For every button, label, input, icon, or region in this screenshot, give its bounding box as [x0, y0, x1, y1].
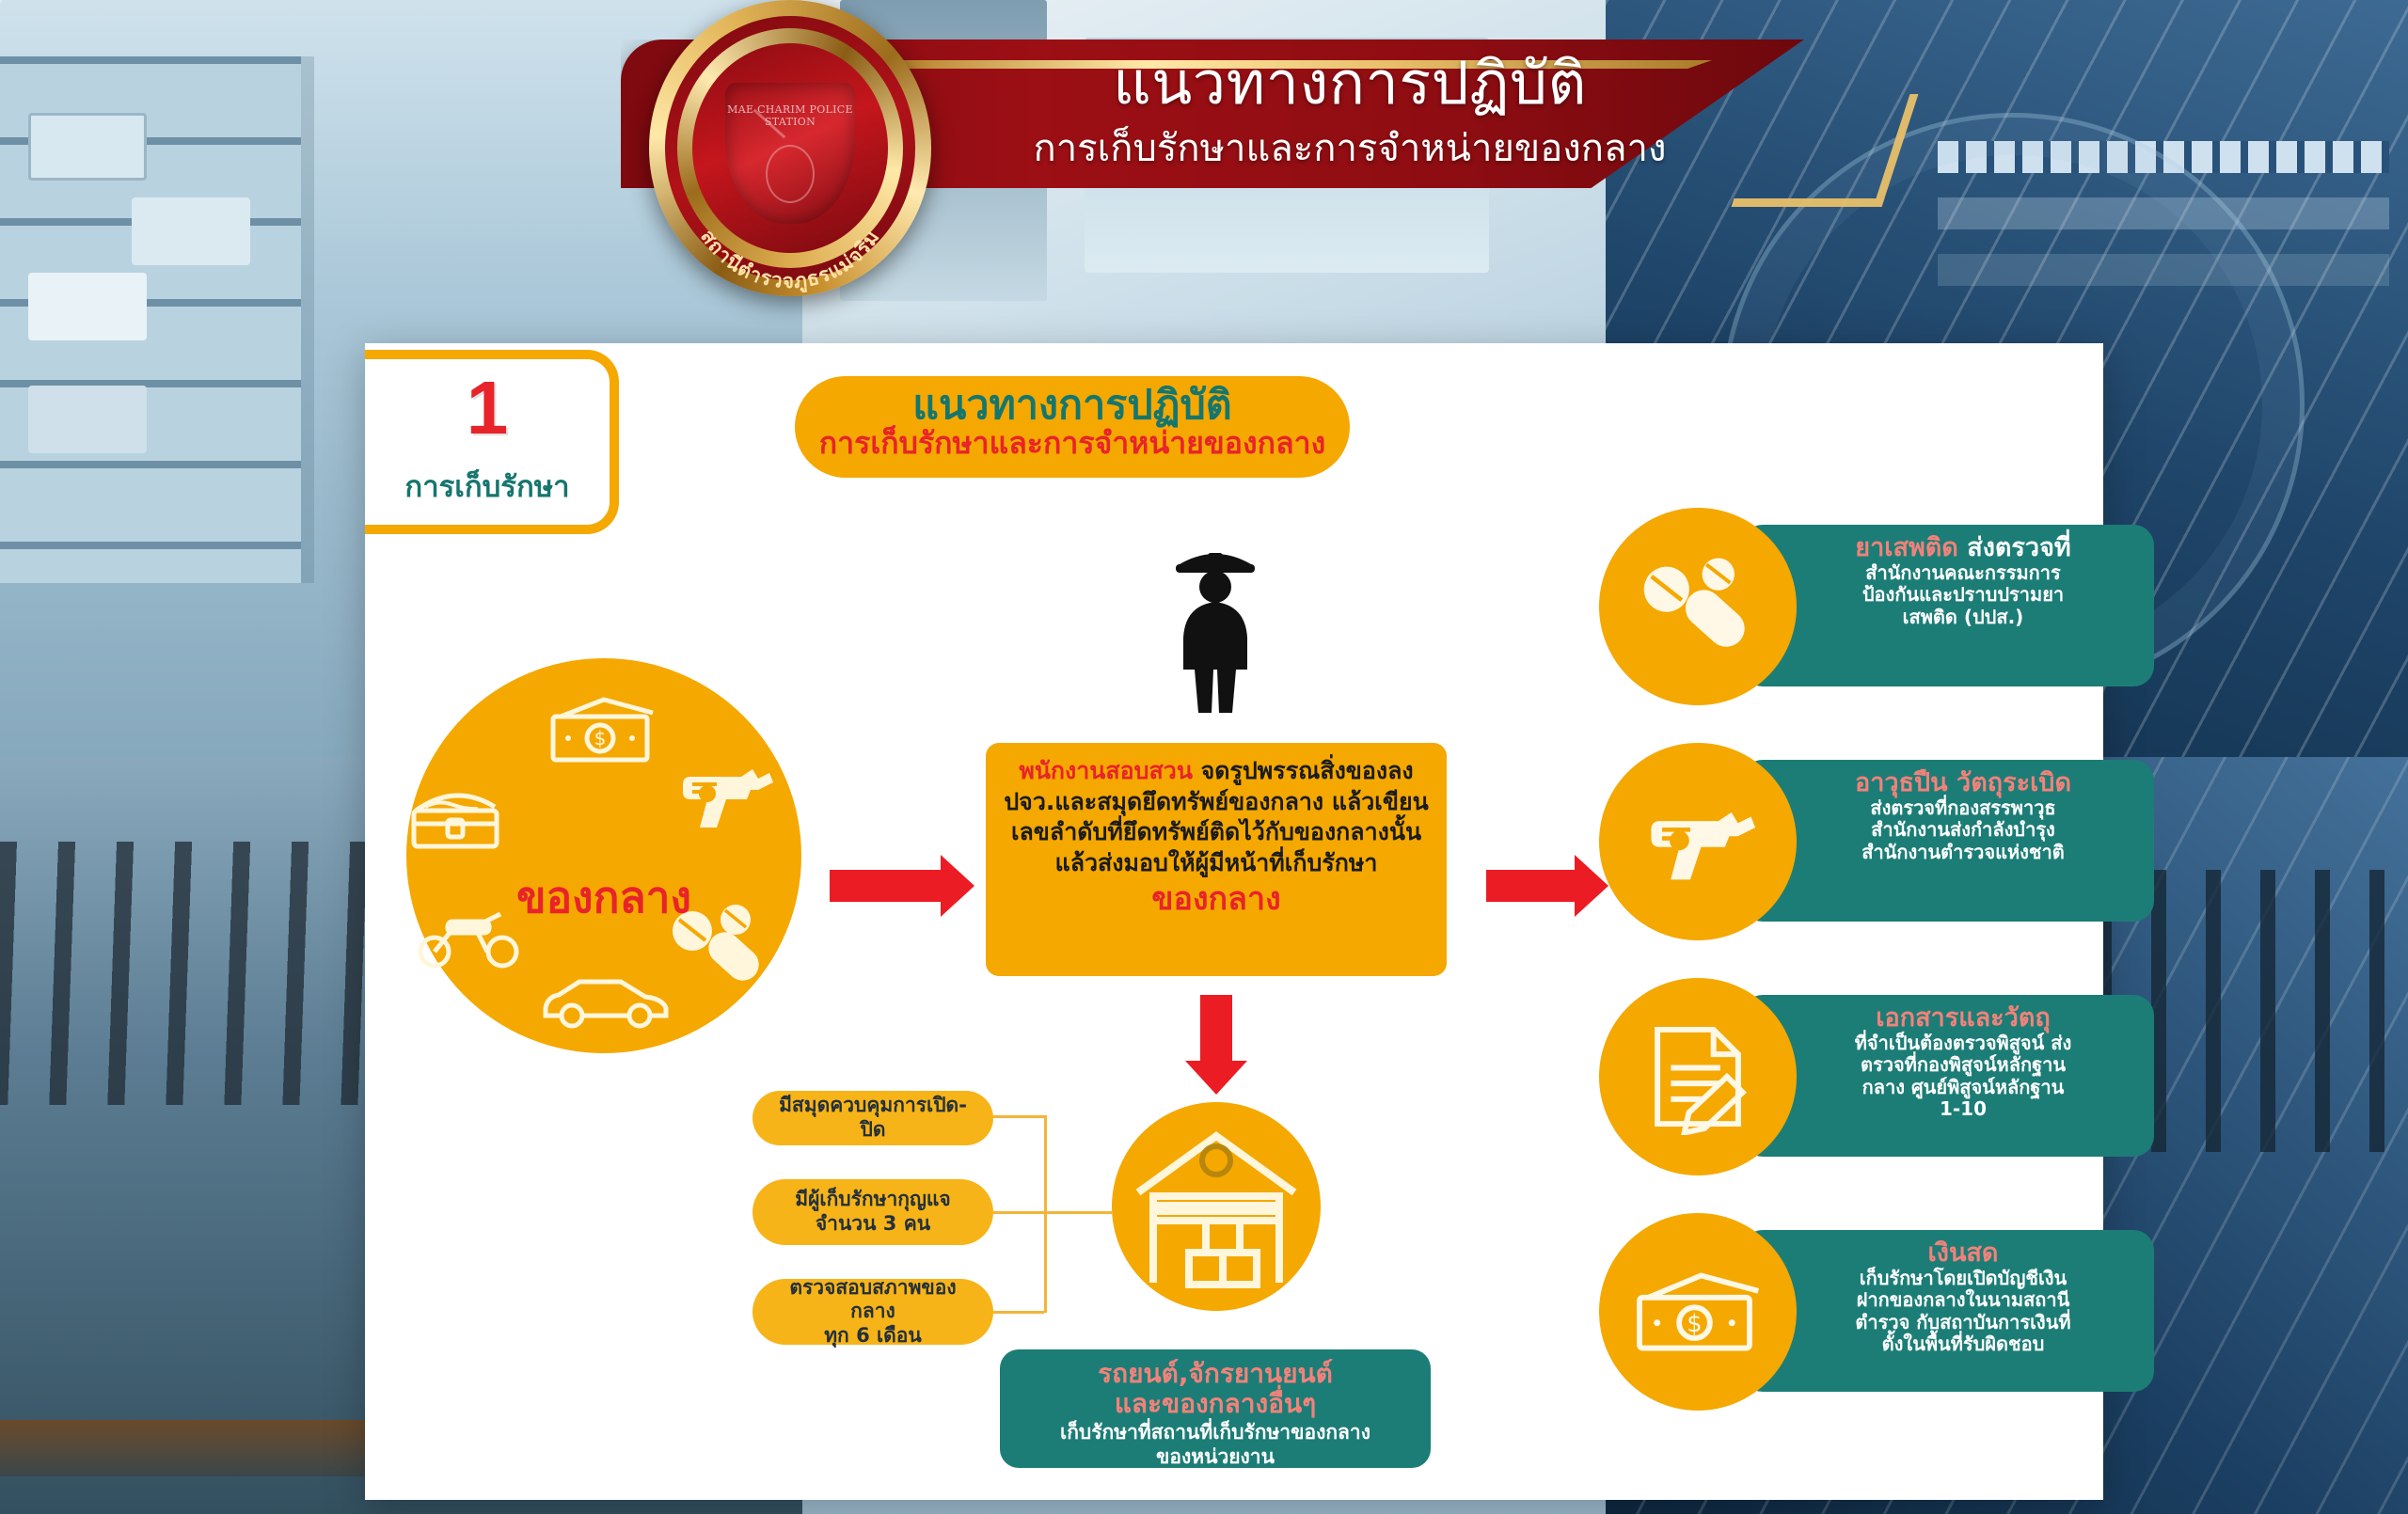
- category-title-0: ยาเสพติด ส่งตรวจที่: [1785, 534, 2141, 562]
- category-icon-circle-3: $: [1599, 1213, 1797, 1411]
- step-1-bracket: 1 การเก็บรักษา: [365, 350, 619, 534]
- evidence-circle-label: ของกลาง: [406, 863, 801, 932]
- badge-thai-arc-text: สถานีตำรวจภูธรแม่จริม: [649, 0, 931, 296]
- warehouse-icon: [1112, 1102, 1321, 1311]
- arrow-center-to-categories: [1486, 870, 1576, 902]
- header-text-group: แนวทางการปฏิบัติ การเก็บรักษาและการจำหน่…: [969, 49, 1731, 173]
- control-pill-2: มีผู้เก็บรักษากุญแจจำนวน 3 คน: [752, 1179, 993, 1245]
- category-desc-2: ที่จำเป็นต้องตรวจพิสูจน์ ส่งตรวจที่กองพิ…: [1785, 1033, 2141, 1121]
- svg-text:สถานีตำรวจภูธรแม่จริม: สถานีตำรวจภูธรแม่จริม: [696, 226, 884, 294]
- screenshot-root: แนวทางการปฏิบัติ การเก็บรักษาและการจำหน่…: [0, 0, 2408, 1514]
- center-line-1-highlight: พนักงานสอบสวน: [1019, 757, 1193, 784]
- category-title-2: เอกสารและวัตถุ: [1785, 1004, 2141, 1033]
- category-text-panel-0: ยาเสพติด ส่งตรวจที่ สำนักงานคณะกรรมการป้…: [1742, 525, 2154, 686]
- control-pill-1: มีสมุดควบคุมการเปิด-ปิด: [752, 1091, 993, 1145]
- document-pencil-icon: [1641, 1018, 1754, 1135]
- category-text-panel-2: เอกสารและวัตถุ ที่จำเป็นต้องตรวจพิสูจน์ …: [1742, 995, 2154, 1157]
- category-desc-0: สำนักงานคณะกรรมการป้องกันและปราบปรามยาเส…: [1785, 562, 2141, 629]
- car-icon: [538, 969, 679, 1029]
- category-desc-3: เก็บรักษาโดยเปิดบัญชีเงินฝากของกลางในนาม…: [1785, 1268, 2141, 1356]
- category-row-narcotics: ยาเสพติด ส่งตรวจที่ สำนักงานคณะกรรมการป้…: [1599, 508, 2154, 705]
- category-row-cash: เงินสด เก็บรักษาโดยเปิดบัญชีเงินฝากของกล…: [1599, 1213, 2154, 1411]
- connector-vertical-bus: [1044, 1115, 1047, 1313]
- police-badge-emblem: MAE CHARIM POLICE STATION สถานีตำรวจภูธร…: [649, 0, 931, 296]
- svg-text:$: $: [594, 727, 607, 749]
- center-emphasis-label: ของกลาง: [1001, 880, 1432, 919]
- category-icon-circle-2: [1599, 978, 1797, 1175]
- infographic-title: แนวทางการปฏิบัติ: [795, 384, 1350, 427]
- pills-icon: [1639, 554, 1757, 659]
- svg-text:$: $: [1687, 1310, 1702, 1338]
- arrow-circle-to-center: [830, 870, 943, 902]
- revolver-icon: [668, 754, 779, 835]
- header-title: แนวทางการปฏิบัติ: [969, 49, 1731, 118]
- center-line-4: แล้วส่งมอบให้ผู้มีหน้าที่เก็บรักษา: [1001, 848, 1432, 879]
- header-subtitle: การเก็บรักษาและการจำหน่ายของกลาง: [969, 124, 1731, 173]
- category-icon-circle-1: [1599, 743, 1797, 940]
- police-officer-icon: [1159, 536, 1272, 715]
- evidence-summary-circle: $: [406, 658, 801, 1053]
- banknote-icon: $: [547, 692, 658, 765]
- bottom-box-description: เก็บรักษาที่สถานที่เก็บรักษาของกลางของหน…: [1000, 1421, 1431, 1468]
- category-text-panel-3: เงินสด เก็บรักษาโดยเปิดบัญชีเงินฝากของกล…: [1742, 1230, 2154, 1392]
- center-line-1: พนักงานสอบสวน จดรูปพรรณสิ่งของลง: [1001, 756, 1432, 787]
- revolver-icon: [1634, 795, 1762, 889]
- infographic-subtitle: การเก็บรักษาและการจำหน่ายของกลาง: [795, 427, 1350, 461]
- category-icon-circle-0: [1599, 508, 1797, 705]
- control-pill-3: ตรวจสอบสภาพของกลางทุก 6 เดือน: [752, 1279, 993, 1345]
- infographic-title-pill: แนวทางการปฏิบัติ การเก็บรักษาและการจำหน่…: [795, 376, 1350, 478]
- category-text-panel-1: อาวุธปืน วัตถุระเบิด ส่งตรวจที่กองสรรพาว…: [1742, 760, 2154, 922]
- warehouse-storage-circle: [1112, 1102, 1321, 1311]
- bottom-box-title: รถยนต์,จักรยานยนต์และของกลางอื่นๆ: [1000, 1359, 1431, 1419]
- category-title-3: เงินสด: [1785, 1239, 2141, 1268]
- category-row-documents: เอกสารและวัตถุ ที่จำเป็นต้องตรวจพิสูจน์ …: [1599, 978, 2154, 1175]
- center-line-3: เลขลำดับที่ยึดทรัพย์ติดไว้กับของกลางนั้น: [1001, 817, 1432, 848]
- step-label: การเก็บรักษา: [365, 463, 610, 510]
- category-row-firearms: อาวุธปืน วัตถุระเบิด ส่งตรวจที่กองสรรพาว…: [1599, 743, 2154, 940]
- connector-line-2: [993, 1211, 1112, 1214]
- center-line-2: ปจว.และสมุดยึดทรัพย์ของกลาง แล้วเขียน: [1001, 787, 1432, 818]
- category-title-1: อาวุธปืน วัตถุระเบิด: [1785, 769, 2141, 797]
- arrow-center-to-warehouse: [1200, 995, 1232, 1063]
- connector-line-3: [993, 1311, 1044, 1314]
- center-instruction-box: พนักงานสอบสวน จดรูปพรรณสิ่งของลง ปจว.และ…: [986, 743, 1447, 976]
- category-desc-1: ส่งตรวจที่กองสรรพาวุธสำนักงานส่งกำลังบำร…: [1785, 797, 2141, 864]
- step-number: 1: [365, 371, 610, 446]
- connector-line-1: [993, 1115, 1044, 1118]
- banknote-icon: $: [1633, 1267, 1763, 1357]
- treasure-chest-icon: [408, 779, 502, 852]
- bottom-vehicle-storage-box: รถยนต์,จักรยานยนต์และของกลางอื่นๆ เก็บรั…: [1000, 1349, 1431, 1468]
